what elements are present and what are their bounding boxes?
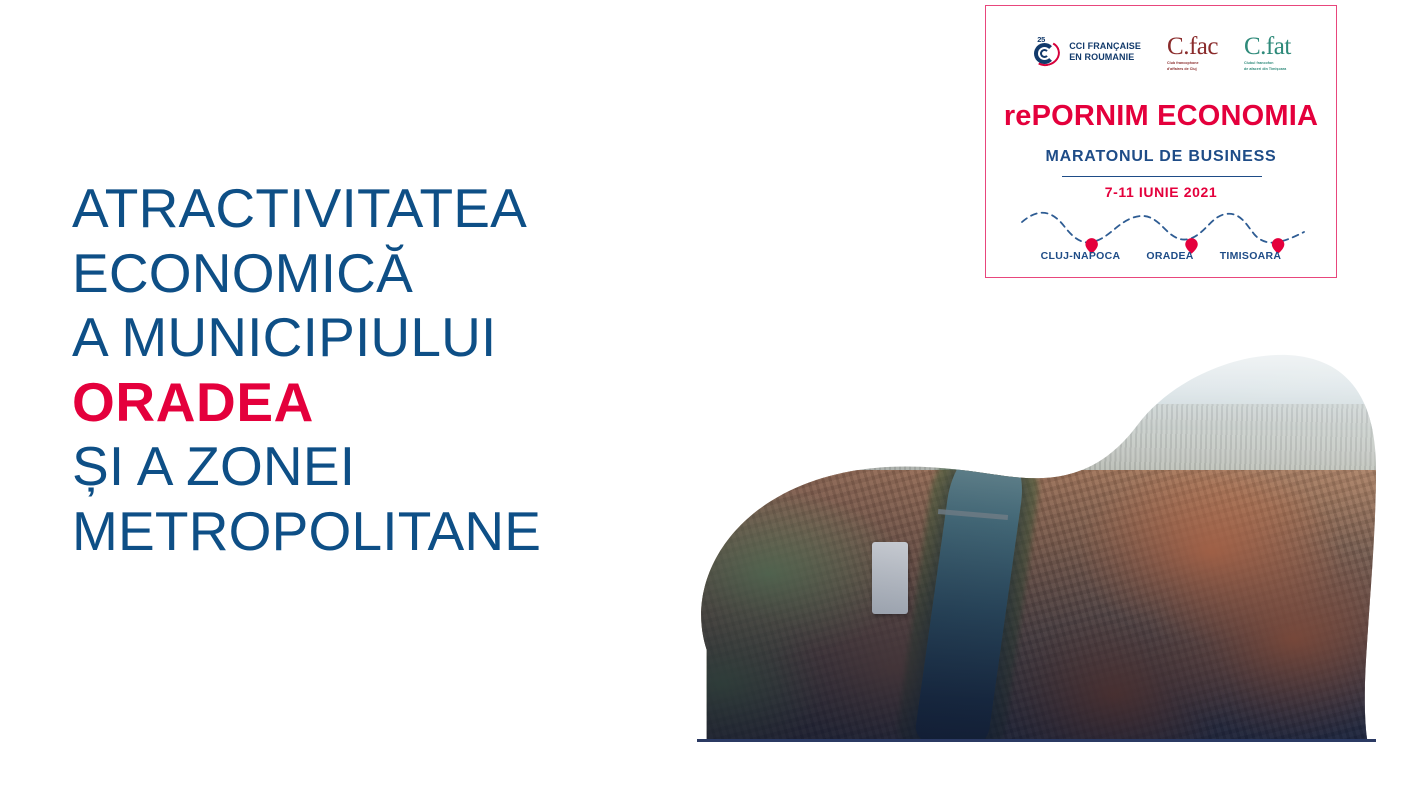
route-dashed-path: [1022, 213, 1304, 243]
c-fac-wordmark: C.fac: [1167, 34, 1218, 60]
title-line-2: ECONOMICĂ: [72, 241, 692, 306]
cci-red-arc-icon: [1030, 38, 1063, 69]
page-title: ATRACTIVITATEA ECONOMICĂ A MUNICIPIULUI …: [72, 176, 692, 563]
cci-wordmark: CCI FRANÇAISE EN ROUMANIE: [1069, 41, 1141, 63]
photo-shading-overlay: [686, 352, 1376, 744]
oradea-aerial-photo: [686, 352, 1376, 744]
cci-wordmark-line2: EN ROUMANIE: [1069, 52, 1141, 63]
badge-city-labels: CLUJ-NAPOCA ORADEA TIMISOARA: [986, 250, 1336, 262]
title-line-oradea: ORADEA: [72, 370, 692, 435]
badge-headline: rePORNIM ECONOMIA: [986, 100, 1336, 133]
badge-date: 7-11 IUNIE 2021: [986, 184, 1336, 200]
c-fat-logo: C.fat Clubul francofon de afaceri din Ti…: [1244, 32, 1291, 71]
title-line-6: METROPOLITANE: [72, 499, 692, 564]
title-line-1: ATRACTIVITATEA: [72, 176, 692, 241]
photo-baseline-rule: [697, 739, 1376, 742]
c-fat-wordmark: C.fat: [1244, 34, 1291, 60]
city-label-timisoara: TIMISOARA: [1220, 250, 1282, 262]
title-line-5: ȘI A ZONEI: [72, 434, 692, 499]
c-fat-prefix: C.: [1244, 33, 1266, 60]
c-fat-subtitle-line2: de afaceri din Timișoara: [1244, 67, 1291, 72]
c-fac-suffix: fac: [1189, 33, 1218, 60]
c-fat-suffix: fat: [1266, 33, 1291, 60]
city-label-cluj-napoca: CLUJ-NAPOCA: [1041, 250, 1121, 262]
cci-francaise-logo: 25 CCI FRANÇAISE EN ROUMANIE: [1031, 36, 1141, 68]
c-fac-logo: C.fac Club francophone d'affaires de Clu…: [1167, 32, 1218, 71]
cci-mark-icon: 25: [1031, 36, 1065, 68]
city-label-oradea: ORADEA: [1146, 250, 1193, 262]
event-badge: 25 CCI FRANÇAISE EN ROUMANIE C.fac Club …: [985, 5, 1337, 278]
c-fac-subtitle-line2: d'affaires de Cluj: [1167, 67, 1218, 72]
badge-subtitle: MARATONUL DE BUSINESS: [986, 148, 1336, 166]
badge-divider: [1062, 176, 1262, 177]
title-line-3: A MUNICIPIULUI: [72, 305, 692, 370]
badge-logo-row: 25 CCI FRANÇAISE EN ROUMANIE C.fac Club …: [986, 28, 1336, 76]
c-fac-prefix: C.: [1167, 33, 1189, 60]
c-fat-subtitle-line1: Clubul francofon: [1244, 61, 1291, 66]
c-fac-subtitle-line1: Club francophone: [1167, 61, 1218, 66]
photo-blob-mask: [686, 352, 1376, 744]
presentation-slide: ATRACTIVITATEA ECONOMICĂ A MUNICIPIULUI …: [0, 0, 1401, 801]
badge-route-map: [1016, 204, 1308, 254]
cci-wordmark-line1: CCI FRANÇAISE: [1069, 41, 1141, 52]
